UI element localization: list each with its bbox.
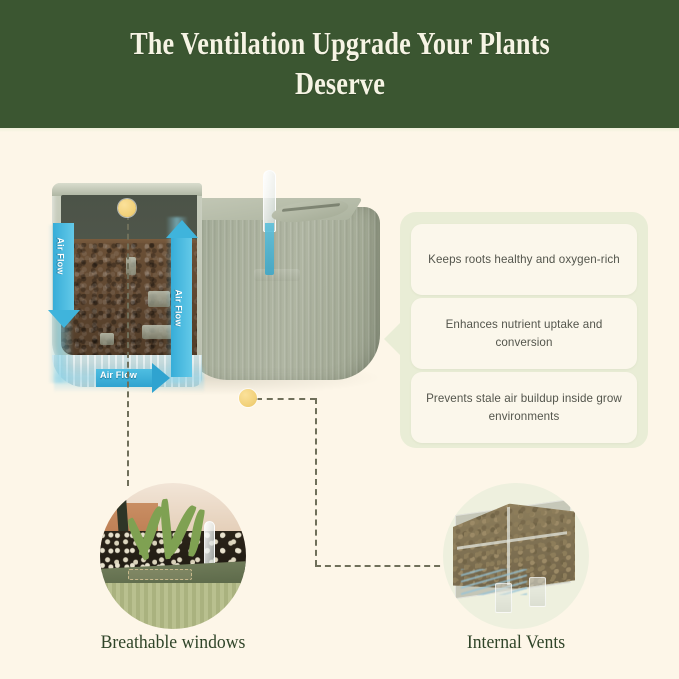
header-divider (0, 128, 679, 132)
photo-planter-base (100, 583, 246, 629)
callout-line-right-seg2 (315, 398, 317, 566)
feature-card: Enhances nutrient uptake and conversion (411, 298, 637, 369)
feature-card: Keeps roots healthy and oxygen-rich (411, 224, 637, 295)
detail-photo-internal-vents (443, 483, 589, 629)
airflow-label-left: Air Flow (56, 237, 66, 274)
planter-rib-texture (182, 207, 380, 380)
callout-marker-bottom (239, 389, 257, 407)
photo-airflow-streaks (461, 569, 527, 595)
callout-marker-top (118, 199, 136, 217)
photo-water-gauge (204, 521, 215, 565)
feature-panel-pointer-icon (384, 322, 401, 356)
feature-card-text: Prevents stale air buildup inside grow e… (425, 390, 623, 426)
internal-vent-stub (100, 333, 114, 345)
header-banner: The Ventilation Upgrade Your Plants Dese… (0, 0, 679, 128)
photo-breathable-window (128, 569, 192, 580)
brand-emboss (254, 269, 300, 281)
arrow-head-up-icon (166, 220, 198, 238)
water-level-indicator (265, 223, 274, 275)
photo-vent-leg (529, 577, 546, 607)
arrow-head-down-icon (48, 310, 80, 328)
callout-line-left (127, 214, 129, 486)
airflow-label-bottom: Air Flow (100, 370, 137, 380)
detail-label-breathable-windows: Breathable windows (34, 632, 313, 654)
arrow-head-right-icon (152, 363, 170, 393)
feature-card-text: Keeps roots healthy and oxygen-rich (428, 251, 620, 269)
photo-vent-leg (495, 583, 512, 613)
product-illustration: Air Flow Air Flow Air Flow (30, 165, 390, 430)
page-title: The Ventilation Upgrade Your Plants Dese… (126, 24, 552, 103)
callout-line-right-seg3 (315, 565, 450, 567)
feature-card: Prevents stale air buildup inside grow e… (411, 372, 637, 443)
feature-card-text: Enhances nutrient uptake and conversion (425, 316, 623, 352)
airflow-label-right: Air Flow (174, 289, 184, 326)
detail-photo-breathable-windows (100, 483, 246, 629)
callout-line-right-seg1 (256, 398, 316, 400)
detail-label-internal-vents: Internal Vents (377, 632, 656, 654)
planter-body (182, 207, 380, 380)
